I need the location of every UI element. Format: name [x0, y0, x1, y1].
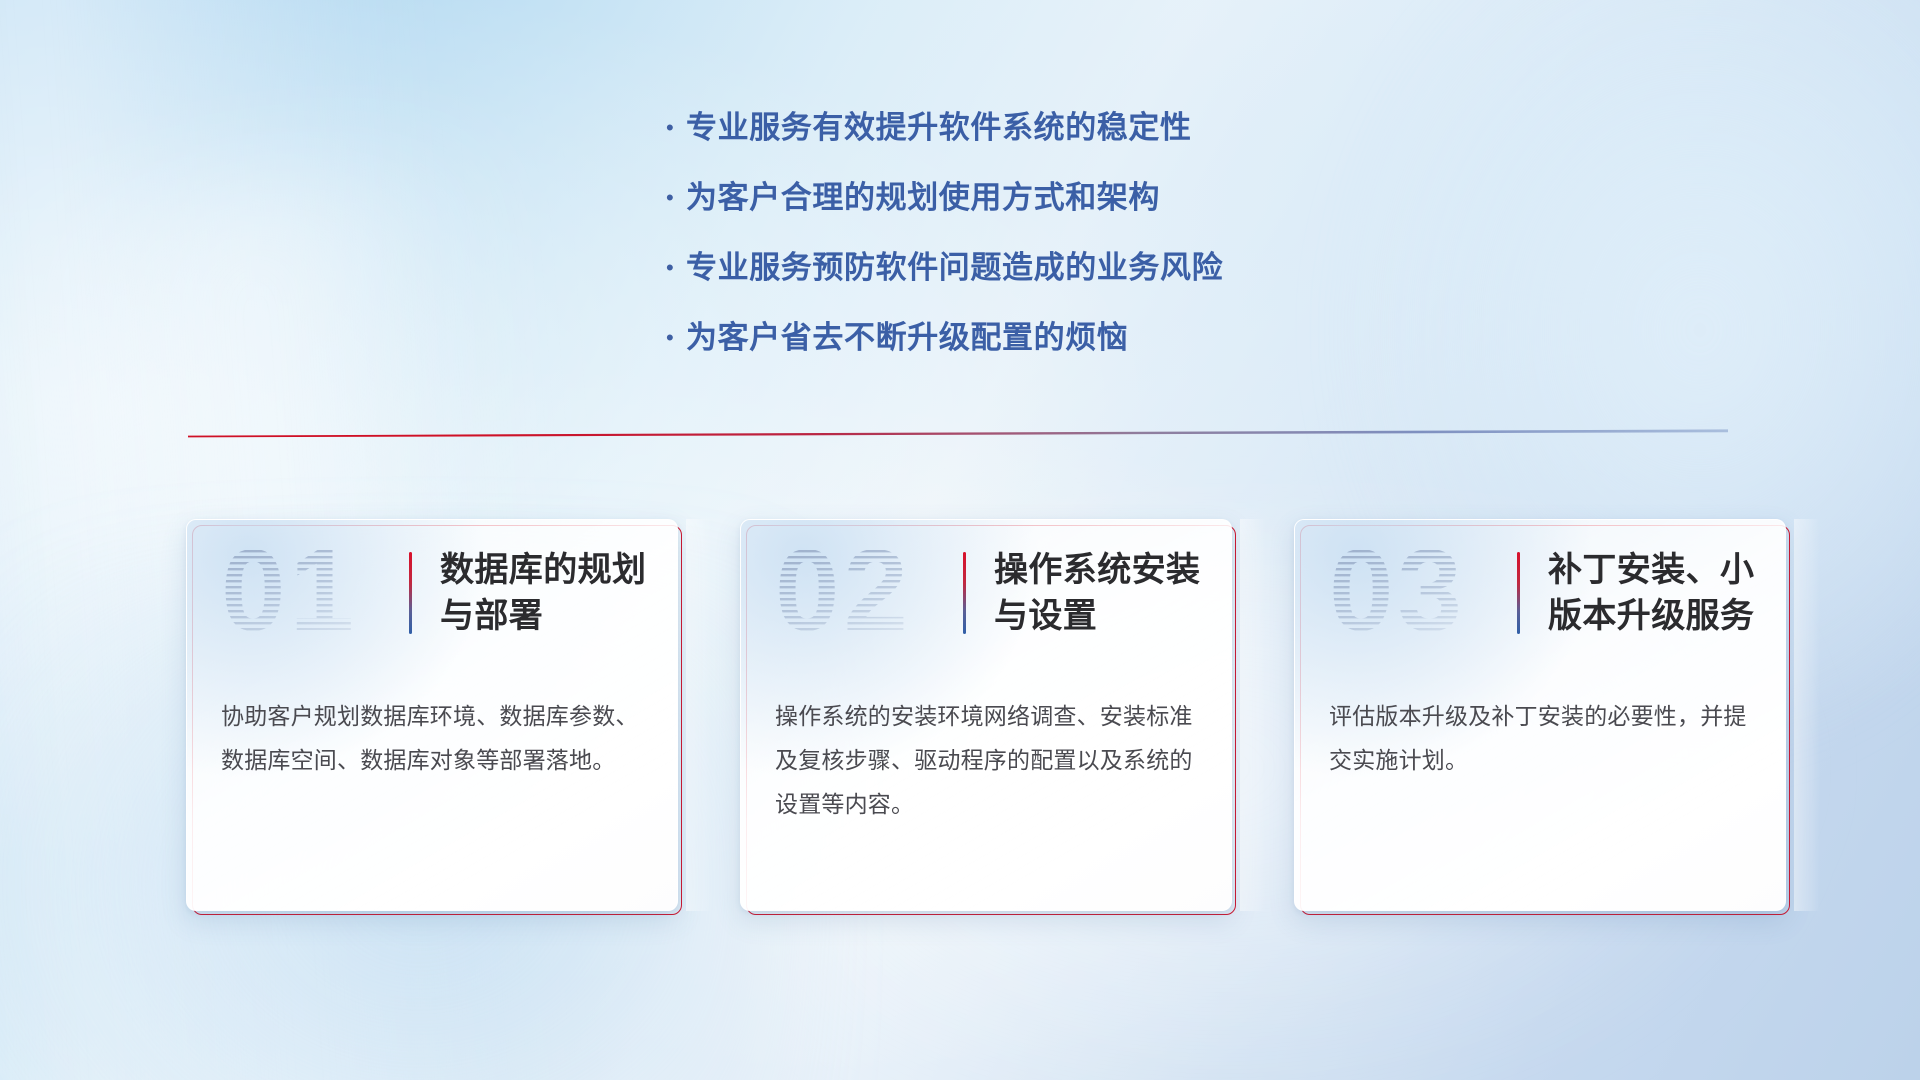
section-divider — [188, 424, 1728, 440]
service-card[interactable]: 01 数据库的规划与部署 协助客户规划数据库环境、数据库参数、数据库空间、数据库… — [186, 519, 678, 911]
bullet-item-label: 专业服务预防软件问题造成的业务风险 — [686, 248, 1223, 288]
card-title-divider — [1517, 552, 1520, 634]
bullet-item-label: 为客户省去不断升级配置的烦恼 — [686, 318, 1128, 358]
number-watermark-icon: 01 — [221, 538, 409, 648]
card-surface: 01 数据库的规划与部署 协助客户规划数据库环境、数据库参数、数据库空间、数据库… — [186, 519, 678, 911]
divider-shape-icon — [188, 424, 1728, 440]
card-header: 03 补丁安装、小版本升级服务 — [1295, 520, 1785, 666]
benefits-bullet-list: • 专业服务有效提升软件系统的稳定性 • 为客户合理的规划使用方式和架构 • 专… — [660, 108, 1480, 388]
card-edge-glow — [686, 519, 712, 911]
card-number-watermark: 02 — [775, 538, 963, 648]
svg-text:01: 01 — [221, 538, 358, 648]
bullet-marker-icon: • — [660, 318, 686, 358]
card-title: 数据库的规划与部署 — [440, 547, 670, 639]
card-description: 评估版本升级及补丁安装的必要性，并提交实施计划。 — [1329, 694, 1751, 782]
card-header: 01 数据库的规划与部署 — [187, 520, 677, 666]
card-title-divider — [409, 552, 412, 634]
card-description: 协助客户规划数据库环境、数据库参数、数据库空间、数据库对象等部署落地。 — [221, 694, 643, 782]
bullet-item: • 专业服务有效提升软件系统的稳定性 — [660, 108, 1480, 148]
svg-text:02: 02 — [775, 538, 912, 648]
bullet-marker-icon: • — [660, 248, 686, 288]
bullet-marker-icon: • — [660, 178, 686, 218]
card-header: 02 操作系统安装与设置 — [741, 520, 1231, 666]
bullet-item: • 专业服务预防软件问题造成的业务风险 — [660, 248, 1480, 288]
card-number-watermark: 03 — [1329, 538, 1517, 648]
bullet-item: • 为客户省去不断升级配置的烦恼 — [660, 318, 1480, 358]
number-watermark-icon: 02 — [775, 538, 963, 648]
card-edge-glow — [1794, 519, 1820, 911]
card-title-divider — [963, 552, 966, 634]
bullet-item-label: 为客户合理的规划使用方式和架构 — [686, 178, 1160, 218]
bullet-item-label: 专业服务有效提升软件系统的稳定性 — [686, 108, 1192, 148]
service-card[interactable]: 03 补丁安装、小版本升级服务 评估版本升级及补丁安装的必要性，并提交实施计划。 — [1294, 519, 1786, 911]
card-number-watermark: 01 — [221, 538, 409, 648]
card-surface: 03 补丁安装、小版本升级服务 评估版本升级及补丁安装的必要性，并提交实施计划。 — [1294, 519, 1786, 911]
card-surface: 02 操作系统安装与设置 操作系统的安装环境网络调查、安装标准及复核步骤、驱动程… — [740, 519, 1232, 911]
bullet-item: • 为客户合理的规划使用方式和架构 — [660, 178, 1480, 218]
slide-root: • 专业服务有效提升软件系统的稳定性 • 为客户合理的规划使用方式和架构 • 专… — [0, 0, 1920, 1080]
svg-text:03: 03 — [1329, 538, 1466, 648]
bullet-marker-icon: • — [660, 108, 686, 148]
card-description: 操作系统的安装环境网络调查、安装标准及复核步骤、驱动程序的配置以及系统的设置等内… — [775, 694, 1197, 826]
service-card[interactable]: 02 操作系统安装与设置 操作系统的安装环境网络调查、安装标准及复核步骤、驱动程… — [740, 519, 1232, 911]
card-title: 操作系统安装与设置 — [994, 547, 1224, 639]
card-title: 补丁安装、小版本升级服务 — [1548, 547, 1778, 639]
service-card-list: 01 数据库的规划与部署 协助客户规划数据库环境、数据库参数、数据库空间、数据库… — [186, 519, 1786, 911]
card-edge-glow — [1240, 519, 1266, 911]
number-watermark-icon: 03 — [1329, 538, 1517, 648]
